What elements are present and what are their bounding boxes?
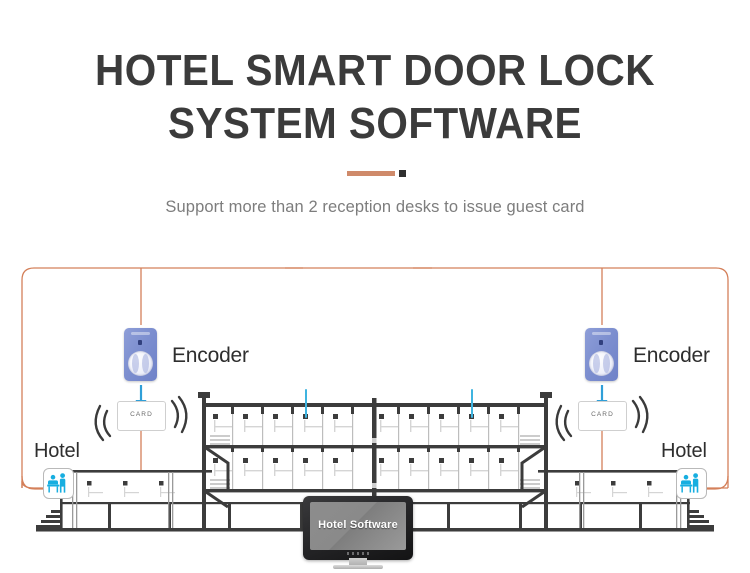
reception-desk-icon-right (676, 468, 707, 499)
poster-page: HOTEL SMART DOOR LOCK SYSTEM SOFTWARE Su… (0, 0, 750, 573)
reception-desk-icon-left (43, 468, 74, 499)
monitor-bezel: Hotel Software (303, 496, 413, 560)
encoder-label-right: Encoder (633, 344, 710, 368)
reception-desk-icon (44, 469, 73, 498)
encoder-indicator-icon (138, 340, 142, 345)
card-left-label: CARD (118, 411, 165, 418)
encoder-label-left: Encoder (172, 344, 249, 368)
title-divider (0, 168, 750, 178)
header: HOTEL SMART DOOR LOCK SYSTEM SOFTWARE (0, 0, 750, 150)
encoder-top-slot-icon (131, 332, 150, 335)
divider-square (399, 170, 406, 177)
system-diagram: Hotel Software Encoder CARD (0, 240, 750, 573)
encoder-device-right[interactable] (585, 328, 618, 381)
monitor-screen-text: Hotel Software (310, 519, 406, 531)
monitor-base (333, 565, 383, 569)
encoder-reader-icon (128, 351, 153, 376)
door-lock-marker (213, 414, 504, 419)
page-title: HOTEL SMART DOOR LOCK SYSTEM SOFTWARE (30, 0, 720, 150)
divider-bar (347, 171, 395, 176)
encoder-top-slot-icon (592, 332, 611, 335)
hotel-label-left: Hotel (34, 440, 80, 463)
card-right-label: CARD (579, 411, 626, 418)
monitor: Hotel Software (303, 496, 413, 568)
encoder-indicator-icon (599, 340, 603, 345)
hotel-label-right: Hotel (661, 440, 707, 463)
monitor-controls-icon (347, 552, 369, 555)
card-left: CARD (117, 401, 166, 431)
room-fixtures-floor-2 (213, 458, 518, 476)
page-subtitle: Support more than 2 reception desks to i… (0, 198, 750, 217)
monitor-screen: Hotel Software (310, 502, 406, 550)
encoder-reader-icon (589, 351, 614, 376)
card-right: CARD (578, 401, 627, 431)
reception-desk-icon (677, 469, 706, 498)
encoder-device-left[interactable] (124, 328, 157, 381)
